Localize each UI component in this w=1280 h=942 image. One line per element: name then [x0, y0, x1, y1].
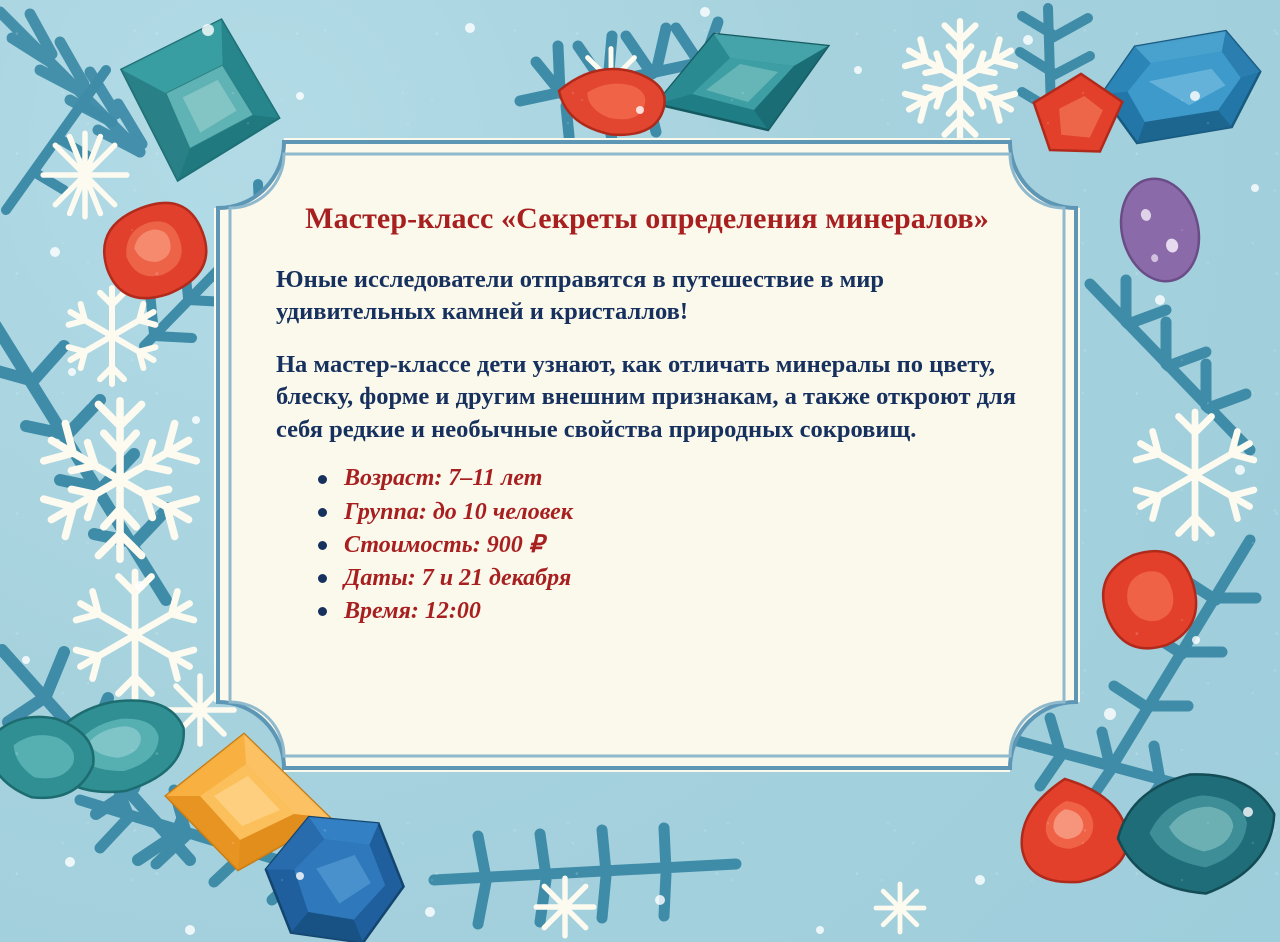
card-paragraph: На мастер-классе дети узнают, как отлича… [276, 349, 1018, 447]
content-card: Мастер-класс «Секреты определения минера… [214, 138, 1080, 772]
list-item: Группа: до 10 человек [318, 496, 1018, 529]
list-item: Стоимость: 900 ₽ [318, 529, 1018, 562]
list-item: Время: 12:00 [318, 595, 1018, 628]
winter-poster: Мастер-класс «Секреты определения минера… [0, 0, 1280, 942]
list-item: Возраст: 7–11 лет [318, 462, 1018, 495]
list-item: Даты: 7 и 21 декабря [318, 562, 1018, 595]
page-title: Мастер-класс «Секреты определения минера… [276, 200, 1018, 238]
card-content: Мастер-класс «Секреты определения минера… [214, 138, 1080, 772]
card-lede: Юные исследователи отправятся в путешест… [276, 264, 1018, 329]
details-list: Возраст: 7–11 лет Группа: до 10 человек … [276, 462, 1018, 628]
